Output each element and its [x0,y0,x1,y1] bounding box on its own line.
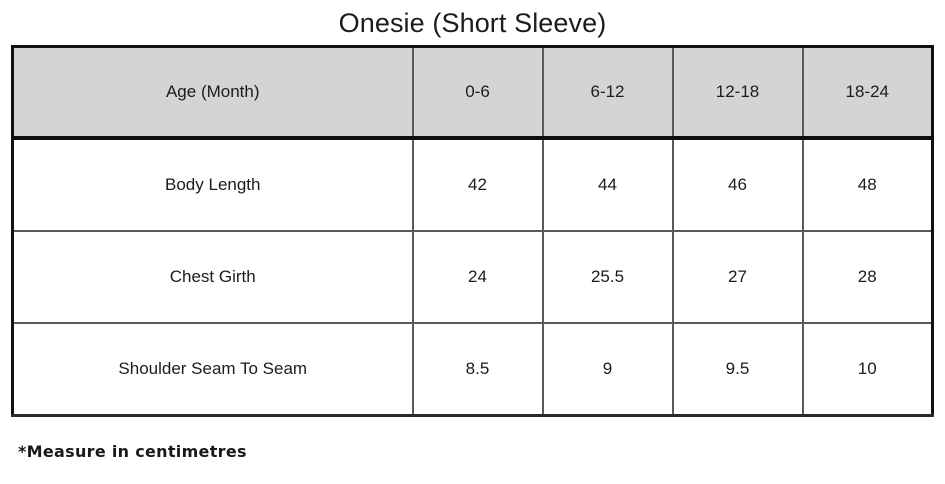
cell-body-length-0-6: 42 [413,138,543,231]
table-row: Body Length 42 44 46 48 [13,138,933,231]
table-row: Chest Girth 24 25.5 27 28 [13,231,933,323]
cell-body-length-18-24: 48 [803,138,933,231]
size-chart-table-container: Age (Month) 0-6 6-12 12-18 18-24 Body Le… [11,45,934,409]
size-chart-table: Age (Month) 0-6 6-12 12-18 18-24 Body Le… [11,45,934,417]
cell-chest-girth-0-6: 24 [413,231,543,323]
column-header-6-12: 6-12 [543,47,673,139]
row-label-body-length: Body Length [13,138,413,231]
cell-shoulder-seam-12-18: 9.5 [673,323,803,416]
table-header: Age (Month) 0-6 6-12 12-18 18-24 [13,47,933,139]
cell-shoulder-seam-18-24: 10 [803,323,933,416]
row-label-chest-girth: Chest Girth [13,231,413,323]
table-body: Body Length 42 44 46 48 Chest Girth 24 2… [13,138,933,416]
page-title: Onesie (Short Sleeve) [0,5,945,41]
row-label-shoulder-seam-to-seam: Shoulder Seam To Seam [13,323,413,416]
column-header-12-18: 12-18 [673,47,803,139]
column-header-18-24: 18-24 [803,47,933,139]
cell-shoulder-seam-6-12: 9 [543,323,673,416]
table-row: Shoulder Seam To Seam 8.5 9 9.5 10 [13,323,933,416]
cell-shoulder-seam-0-6: 8.5 [413,323,543,416]
cell-chest-girth-18-24: 28 [803,231,933,323]
column-header-age: Age (Month) [13,47,413,139]
cell-body-length-12-18: 46 [673,138,803,231]
table-header-row: Age (Month) 0-6 6-12 12-18 18-24 [13,47,933,139]
column-header-0-6: 0-6 [413,47,543,139]
cell-chest-girth-6-12: 25.5 [543,231,673,323]
measurement-unit-note: *Measure in centimetres [18,442,247,461]
cell-chest-girth-12-18: 27 [673,231,803,323]
cell-body-length-6-12: 44 [543,138,673,231]
